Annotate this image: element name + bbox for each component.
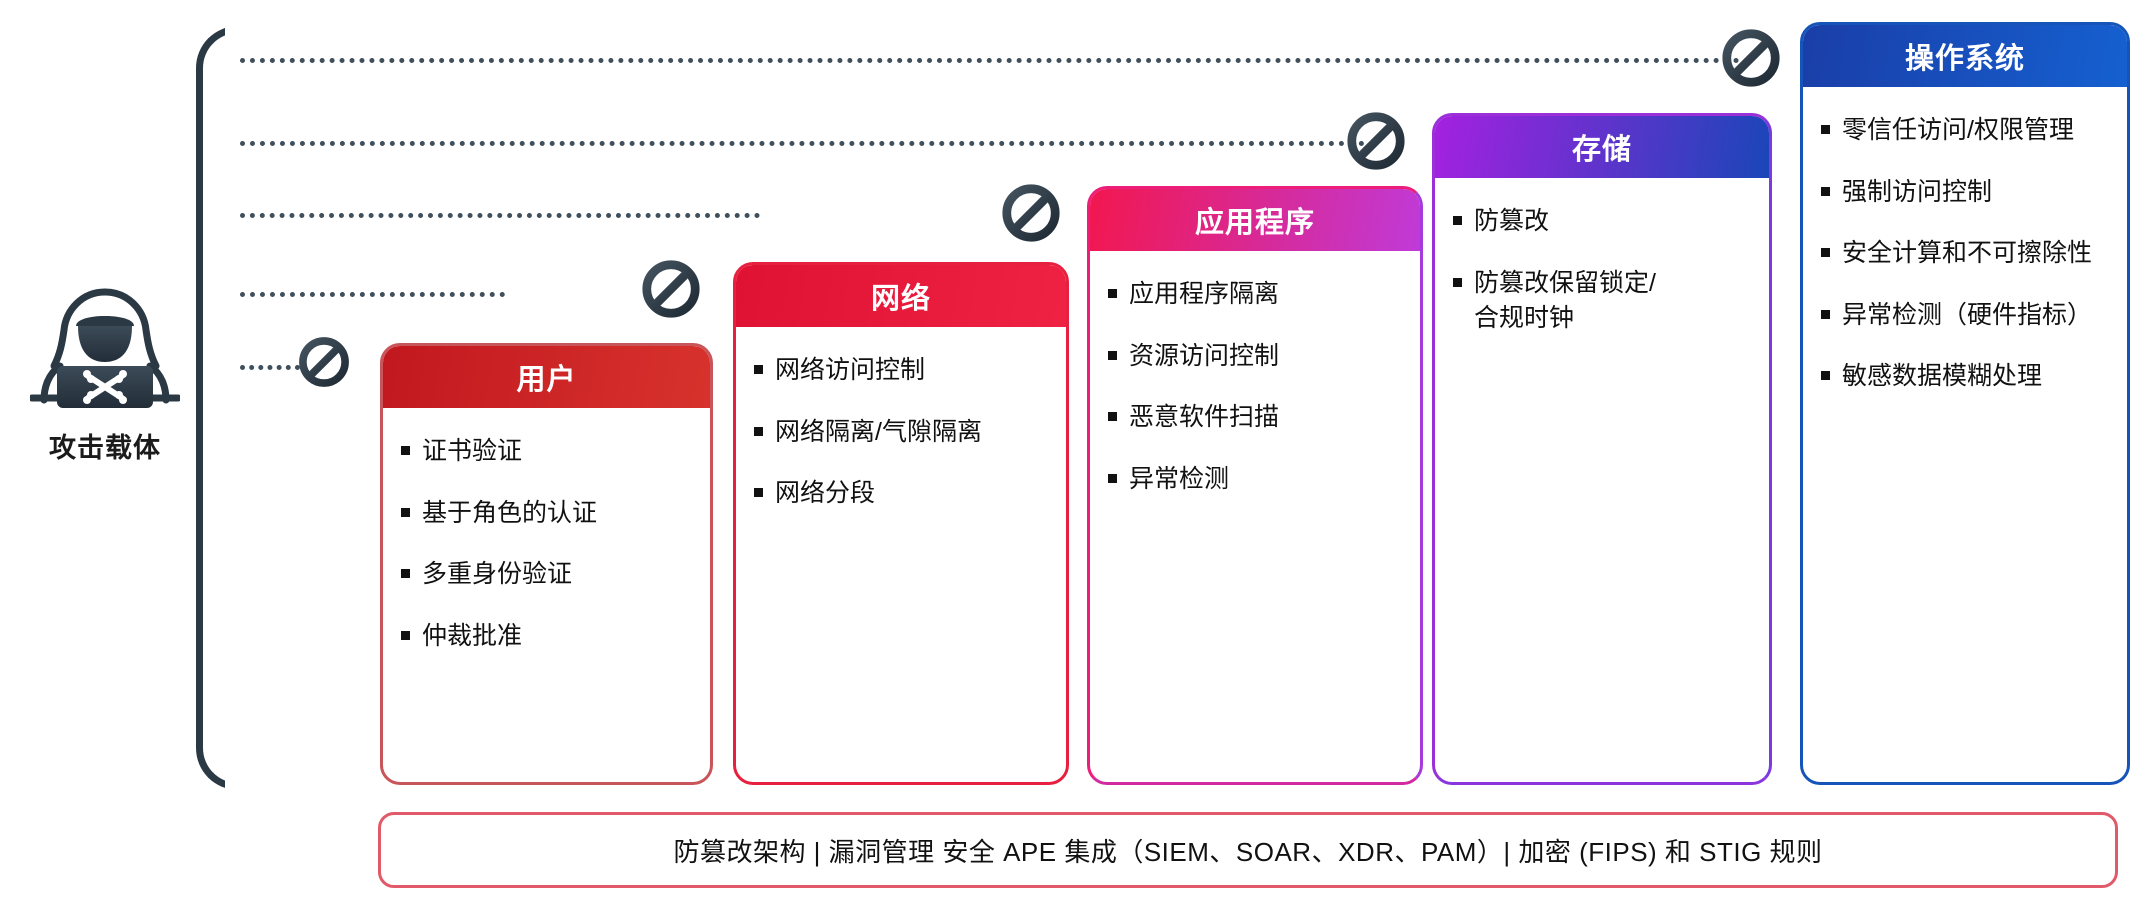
attack-vector-group: 攻击载体 [20,270,190,480]
list-item: 零信任访问/权限管理 [1821,113,2109,149]
attack-line-2 [240,213,760,218]
layer-title: 应用程序 [1195,199,1315,241]
layer-card-body: 证书验证 基于角色的认证 多重身份验证 仲裁批准 [383,408,710,782]
list-item: 网络分段 [754,476,1048,512]
no-entry-icon-4 [1720,27,1782,89]
list-item: 证书验证 [401,434,692,470]
layer-card-header: 网络 [736,265,1066,327]
diagram-canvas: 攻击载体 用户 证书 [0,0,2146,916]
layer-card-body: 网络访问控制 网络隔离/气隙隔离 网络分段 [736,327,1066,782]
list-item: 防篡改保留锁定/ 合规时钟 [1453,266,1751,337]
layer-title: 网络 [871,275,931,317]
layer-card-header: 用户 [383,346,710,408]
list-item-label: 资源访问控制 [1129,339,1279,375]
list-item-label: 零信任访问/权限管理 [1842,113,2074,149]
attack-vector-label: 攻击载体 [49,426,161,465]
bullet-icon [1453,216,1462,225]
list-item: 异常检测 [1108,462,1402,498]
list-item-label: 应用程序隔离 [1129,277,1279,313]
bullet-icon [754,488,763,497]
layer-card-operating-system[interactable]: 操作系统 零信任访问/权限管理 强制访问控制 安全计算和不可擦除性 异常检测（硬… [1800,22,2130,785]
bullet-icon [1821,371,1830,380]
hacker-icon [30,270,180,420]
layer-title: 用户 [516,356,576,398]
list-item-label: 强制访问控制 [1842,175,1992,211]
bullet-icon [1108,351,1117,360]
layer-title: 存储 [1572,126,1632,168]
bullet-icon [401,631,410,640]
attack-line-1 [240,292,505,297]
bullet-icon [401,569,410,578]
bullet-icon [1108,474,1117,483]
bullet-icon [754,427,763,436]
layer-card-user[interactable]: 用户 证书验证 基于角色的认证 多重身份验证 仲裁批准 [380,343,713,785]
list-item-label: 基于角色的认证 [422,496,597,532]
list-item-label: 恶意软件扫描 [1129,400,1279,436]
list-item: 基于角色的认证 [401,496,692,532]
attack-bracket [196,26,242,790]
list-item: 仲裁批准 [401,619,692,655]
bullet-icon [754,365,763,374]
attack-line-4 [240,58,1750,63]
bullet-icon [1821,125,1830,134]
list-item: 多重身份验证 [401,557,692,593]
foundation-banner[interactable]: 防篡改架构 | 漏洞管理 安全 APE 集成（SIEM、SOAR、XDR、PAM… [378,812,2118,888]
list-item: 网络访问控制 [754,353,1048,389]
no-entry-icon-1 [640,258,702,320]
list-item-label: 网络访问控制 [775,353,925,389]
bullet-icon [401,446,410,455]
list-item-label: 网络隔离/气隙隔离 [775,415,982,451]
list-item-label: 敏感数据模糊处理 [1842,359,2042,395]
bullet-icon [1821,310,1830,319]
list-item: 恶意软件扫描 [1108,400,1402,436]
foundation-banner-label: 防篡改架构 | 漏洞管理 安全 APE 集成（SIEM、SOAR、XDR、PAM… [673,832,1822,869]
list-item-label: 安全计算和不可擦除性 [1842,236,2092,272]
list-item: 强制访问控制 [1821,175,2109,211]
list-item: 防篡改 [1453,204,1751,240]
layer-card-network[interactable]: 网络 网络访问控制 网络隔离/气隙隔离 网络分段 [733,262,1069,785]
layer-card-body: 防篡改 防篡改保留锁定/ 合规时钟 [1435,178,1769,782]
list-item-label: 异常检测 [1129,462,1229,498]
bullet-icon [1821,187,1830,196]
list-item-label: 异常检测（硬件指标） [1842,298,2092,334]
bullet-icon [1108,289,1117,298]
layer-card-header: 存储 [1435,116,1769,178]
bullet-icon [1453,278,1462,287]
no-entry-icon-0 [297,335,351,389]
list-item-label: 防篡改 [1474,204,1549,240]
list-item: 资源访问控制 [1108,339,1402,375]
bullet-icon [1108,412,1117,421]
attack-line-3 [240,141,1365,146]
attack-line-0 [240,365,300,370]
bullet-icon [1821,248,1830,257]
layer-card-header: 操作系统 [1803,25,2127,87]
layer-card-storage[interactable]: 存储 防篡改 防篡改保留锁定/ 合规时钟 [1432,113,1772,785]
layer-card-body: 零信任访问/权限管理 强制访问控制 安全计算和不可擦除性 异常检测（硬件指标） … [1803,87,2127,782]
layer-card-body: 应用程序隔离 资源访问控制 恶意软件扫描 异常检测 [1090,251,1420,782]
list-item: 敏感数据模糊处理 [1821,359,2109,395]
list-item: 安全计算和不可擦除性 [1821,236,2109,272]
list-item: 异常检测（硬件指标） [1821,298,2109,334]
layer-card-application[interactable]: 应用程序 应用程序隔离 资源访问控制 恶意软件扫描 异常检测 [1087,186,1423,785]
list-item-label: 防篡改保留锁定/ 合规时钟 [1474,266,1656,337]
list-item: 应用程序隔离 [1108,277,1402,313]
list-item-label: 仲裁批准 [422,619,522,655]
bullet-icon [401,508,410,517]
no-entry-icon-3 [1345,110,1407,172]
list-item-label: 证书验证 [422,434,522,470]
list-item: 网络隔离/气隙隔离 [754,415,1048,451]
layer-title: 操作系统 [1905,35,2025,77]
list-item-label: 多重身份验证 [422,557,572,593]
list-item-label: 网络分段 [775,476,875,512]
no-entry-icon-2 [1000,182,1062,244]
layer-card-header: 应用程序 [1090,189,1420,251]
